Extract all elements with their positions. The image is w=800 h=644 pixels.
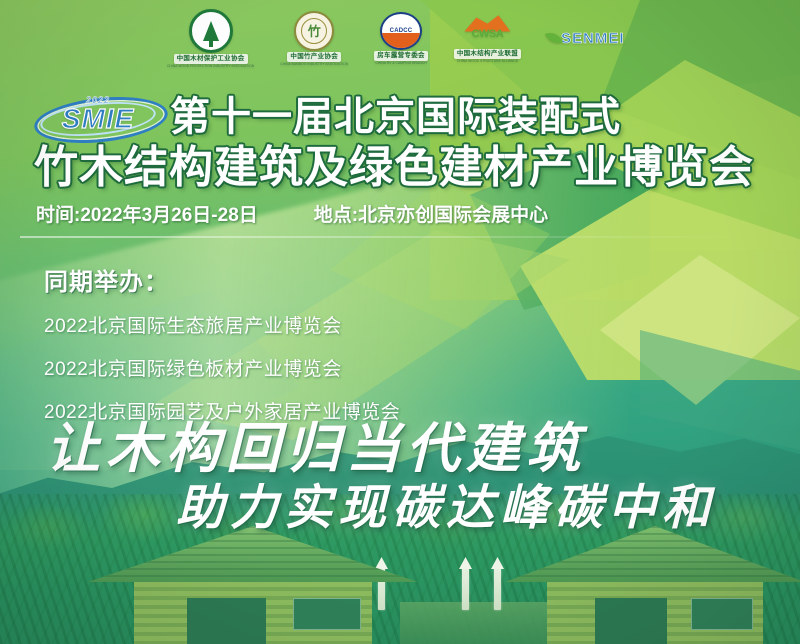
exhibition-poster: 中国木材保护工业协会 CHINA WOOD PROTECTION INDUSTR… bbox=[0, 0, 800, 644]
slogan-line-1: 让木构回归当代建筑 bbox=[0, 418, 800, 480]
logo-caption: 中国竹产业协会 bbox=[287, 52, 341, 62]
logo-cwsa: CWSA 中国木结构产业联盟 CHINA WOOD STRUCTURE ALLI… bbox=[454, 14, 521, 63]
concurrent-events-block: 同期举办： 2022北京国际生态旅居产业博览会 2022北京国际绿色板材产业博览… bbox=[44, 262, 664, 440]
logo-subcaption: CHINA WOOD PROTECTION INDUSTRY ASSOCIATI… bbox=[167, 64, 254, 68]
logo-bamboo-association: 竹 中国竹产业协会 CHINA BAMBOO INDUSTRY ASSOCIAT… bbox=[280, 11, 348, 66]
logo-mark-text: CWSA bbox=[460, 28, 514, 40]
leaf-icon: SENMEI bbox=[547, 25, 633, 51]
house-door bbox=[595, 598, 667, 644]
concurrent-event-item: 2022北京国际生态旅居产业博览会 bbox=[44, 311, 664, 338]
wooden-house-left bbox=[88, 526, 418, 644]
house-window bbox=[691, 598, 753, 630]
wooden-house-right bbox=[505, 526, 800, 644]
logo-caption: 房车露营专委会 bbox=[374, 51, 428, 61]
logo-mark-text: CADCC bbox=[390, 28, 413, 34]
logo-caption: 中国木结构产业联盟 bbox=[454, 49, 521, 59]
logo-subcaption: CHINA RV & CAMPING BRANCH bbox=[375, 61, 426, 65]
event-info-line: 时间:2022年3月26日-28日 地点:北京亦创国际会展中心 bbox=[36, 200, 776, 227]
bamboo-seal-icon: 竹 bbox=[294, 11, 334, 51]
house-roof-icon: CWSA bbox=[460, 14, 514, 48]
logo-china-wood-protection: 中国木材保护工业协会 CHINA WOOD PROTECTION INDUSTR… bbox=[167, 9, 254, 68]
logo-cadcc: CADCC 房车露营专委会 CHINA RV & CAMPING BRANCH bbox=[374, 12, 428, 65]
concurrent-event-item: 2022北京国际绿色板材产业博览会 bbox=[44, 354, 664, 381]
house-window bbox=[293, 598, 361, 630]
info-divider bbox=[20, 236, 740, 238]
title-line-1: 第十一届北京国际装配式 bbox=[170, 94, 621, 140]
poster-slogan-block: 让木构回归当代建筑 助力实现碳达峰碳中和 bbox=[0, 418, 800, 538]
logo-subcaption: CHINA BAMBOO INDUSTRY ASSOCIATION bbox=[280, 62, 348, 66]
house-door bbox=[187, 598, 266, 644]
poster-title-block: 2022 SMIE 第十一届北京国际装配式 竹木结构建筑及绿色建材产业博览会 bbox=[0, 92, 800, 194]
concurrent-heading: 同期举办： bbox=[44, 262, 664, 297]
slogan-line-2: 助力实现碳达峰碳中和 bbox=[0, 480, 800, 538]
organizer-logo-bar: 中国木材保护工业协会 CHINA WOOD PROTECTION INDUSTR… bbox=[0, 8, 800, 68]
pine-tree-circle-icon bbox=[189, 9, 233, 53]
smie-acronym: SMIE bbox=[48, 103, 148, 135]
smie-logo: 2022 SMIE bbox=[34, 94, 162, 140]
logo-caption: 中国木材保护工业协会 bbox=[174, 54, 248, 64]
logo-subcaption: CHINA WOOD STRUCTURE ALLIANCE bbox=[457, 59, 518, 63]
cadcc-badge-icon: CADCC bbox=[380, 12, 422, 50]
logo-mark-text: SENMEI bbox=[561, 30, 625, 47]
title-line-2: 竹木结构建筑及绿色建材产业博览会 bbox=[0, 142, 800, 194]
patio-umbrella bbox=[494, 564, 501, 610]
event-venue: 地点:北京亦创国际会展中心 bbox=[314, 200, 548, 227]
title-first-row: 2022 SMIE 第十一届北京国际装配式 bbox=[0, 92, 800, 142]
patio-umbrella bbox=[462, 564, 469, 610]
logo-senmei: SENMEI bbox=[547, 25, 633, 51]
event-date: 时间:2022年3月26日-28日 bbox=[36, 200, 258, 227]
